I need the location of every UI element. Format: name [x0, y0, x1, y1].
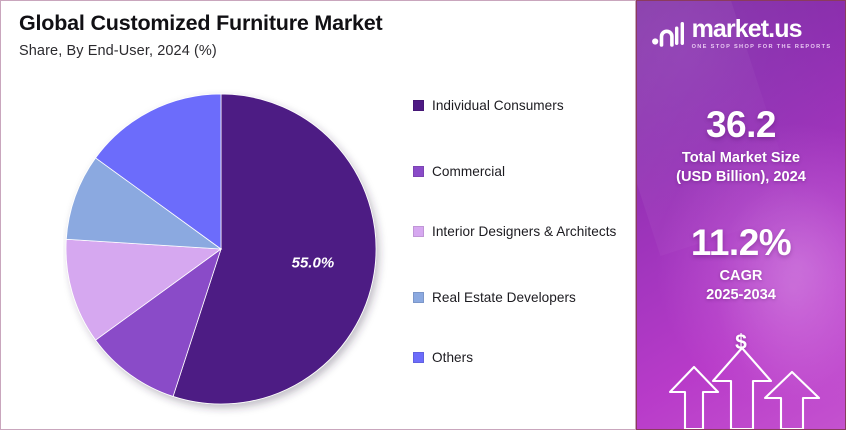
legend-swatch	[413, 292, 424, 303]
legend-item[interactable]: Individual Consumers	[413, 97, 564, 114]
page-subtitle: Share, By End-User, 2024 (%)	[19, 43, 217, 59]
chart-panel: Global Customized Furniture Market Share…	[0, 0, 636, 430]
legend-item[interactable]: Others	[413, 349, 473, 366]
market-size-value: 36.2	[637, 105, 845, 145]
brand-panel: market.us ONE STOP SHOP FOR THE REPORTS …	[636, 0, 846, 430]
legend-item-label: Commercial	[432, 163, 505, 180]
brand-logo-text: market.us ONE STOP SHOP FOR THE REPORTS	[692, 17, 832, 50]
legend-swatch	[413, 352, 424, 363]
arrow-up-left-icon	[670, 367, 718, 429]
arrow-up-right-icon	[765, 372, 819, 429]
legend-item-label: Others	[432, 349, 473, 366]
legend-swatch	[413, 100, 424, 111]
legend-swatch	[413, 226, 424, 237]
pie-chart: 55.0%	[63, 79, 388, 419]
legend-item[interactable]: Real Estate Developers	[413, 289, 576, 306]
legend-item[interactable]: Commercial	[413, 163, 505, 180]
cagr-caption-line1: CAGR	[637, 267, 845, 286]
market-size-caption: Total Market Size (USD Billion), 2024	[637, 149, 845, 187]
cagr-value: 11.2%	[637, 223, 845, 263]
pie-slice-group	[66, 94, 376, 404]
legend-item[interactable]: Interior Designers & Architects	[413, 223, 616, 240]
page-title: Global Customized Furniture Market	[19, 11, 383, 36]
legend-item-label: Interior Designers & Architects	[432, 223, 616, 240]
pie-chart-svg: 55.0%	[63, 79, 388, 419]
cagr-caption-line2: 2025-2034	[637, 286, 845, 305]
brand-logo-tagline: ONE STOP SHOP FOR THE REPORTS	[692, 44, 832, 50]
infographic-root: Global Customized Furniture Market Share…	[0, 0, 846, 430]
market-us-logo-icon	[651, 20, 685, 48]
arrow-up-center-icon	[713, 348, 771, 429]
market-size-caption-line2: (USD Billion), 2024	[637, 168, 845, 187]
pie-slice-label-individual-consumers: 55.0%	[292, 254, 335, 271]
legend-item-label: Real Estate Developers	[432, 289, 576, 306]
legend-item-label: Individual Consumers	[432, 97, 564, 114]
market-size-caption-line1: Total Market Size	[637, 149, 845, 168]
cagr-caption: CAGR 2025-2034	[637, 267, 845, 305]
brand-logo[interactable]: market.us ONE STOP SHOP FOR THE REPORTS	[637, 17, 845, 50]
legend-swatch	[413, 166, 424, 177]
brand-logo-wordmark: market.us	[692, 17, 802, 42]
growth-arrows-icon	[637, 319, 846, 429]
